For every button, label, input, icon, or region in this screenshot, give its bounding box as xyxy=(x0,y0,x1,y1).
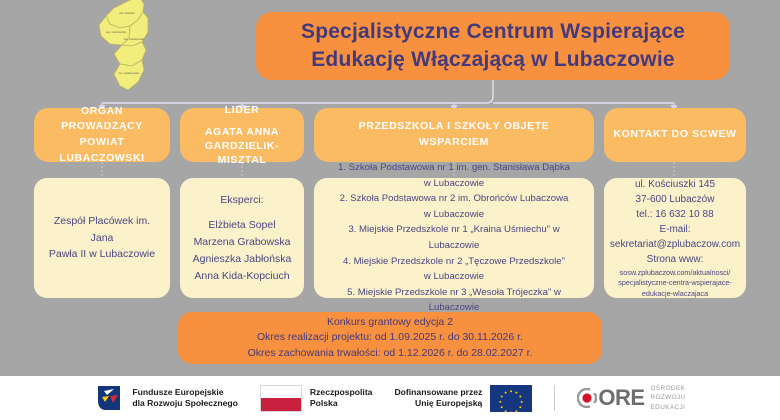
notice-line-1: Konkurs grantowy edycja 2 xyxy=(327,315,453,330)
header-line-2: AGATA ANNA xyxy=(205,125,279,139)
list-item: w Lubaczowie xyxy=(324,207,584,223)
school-list: 1. Szkoła Podstawowa nr 1 im. gen. Stani… xyxy=(324,160,584,315)
card-kontakt: ul. Kościuszki 145 37-600 Lubaczów tel.:… xyxy=(604,178,746,298)
flag-red-stripe xyxy=(261,398,301,411)
address-city: 37-600 Lubaczów xyxy=(636,192,715,207)
address-street: ul. Kościuszki 145 xyxy=(635,177,715,192)
list-item: 5. Miejskie Przedszkole nr 3 „Wesoła Tró… xyxy=(324,285,584,316)
list-item: 1. Szkoła Podstawowa nr 1 im. gen. Stani… xyxy=(324,160,584,176)
list-item: 2. Szkoła Podstawowa nr 2 im. Obrońców L… xyxy=(324,191,584,207)
logo-line-1: Rzeczpospolita xyxy=(310,387,373,398)
eu-flag-icon xyxy=(490,385,532,412)
ore-subtitle: Ośrodek Rozwoju Edukacji xyxy=(651,384,686,413)
logo-dofinansowane-text: Dofinansowane przez Unię Europejską xyxy=(394,387,482,409)
logo-line-2: Polska xyxy=(310,398,373,409)
card-line: Zespół Placówek im. Jana xyxy=(44,213,160,247)
section-header-lider[interactable]: LIDER AGATA ANNA GARDZIELIK-MISZTAL xyxy=(180,108,304,162)
logo-fundusze-europejskie: Fundusze Europejskie dla Rozwoju Społecz… xyxy=(94,384,238,412)
fundusze-europejskie-icon xyxy=(94,384,124,412)
list-item: 3. Miejskie Przedszkole nr 1 „Kraina Uśm… xyxy=(324,222,584,253)
ore-sub-line-3: Edukacji xyxy=(651,403,686,413)
title-line-1: Specjalistyczne Centrum Wspierające xyxy=(301,20,685,43)
notice-line-2: Okres realizacji projektu: od 1.09.2025 … xyxy=(257,330,523,345)
ore-wordmark: ORE xyxy=(577,385,644,411)
map-svg: woj. lubelskie woj. mazowieckie woj. sub… xyxy=(96,0,212,98)
notice-line-3: Okres zachowania trwałości: od 1.12.2026… xyxy=(248,346,533,361)
ore-sub-line-2: Rozwoju xyxy=(651,393,686,403)
page-title: Specjalistyczne Centrum Wspierające Eduk… xyxy=(256,12,730,80)
logo-rzeczpospolita-text: Rzeczpospolita Polska xyxy=(310,387,373,409)
header-line-1: PRZEDSZKOLA I SZKOŁY OBJĘTE WSPARCIEM xyxy=(322,119,586,151)
url-line-2: specjalistyczne-centra-wspierajace- xyxy=(618,278,731,288)
footer-divider xyxy=(554,385,555,411)
svg-text:woj. subkarpackie: woj. subkarpackie xyxy=(124,37,145,41)
logo-dofinansowane-ue: Dofinansowane przez Unię Europejską xyxy=(394,385,532,412)
poland-flag-icon xyxy=(260,385,302,412)
email-address[interactable]: sekretariat@zplubaczow.com xyxy=(610,237,740,252)
grant-notice: Konkurs grantowy edycja 2 Okres realizac… xyxy=(178,312,602,364)
logo-ore: ORE Ośrodek Rozwoju Edukacji xyxy=(577,384,685,413)
email-label: E-mail: xyxy=(659,222,690,237)
expert-name: Elżbieta Sopel xyxy=(208,217,275,234)
header-line-3: GARDZIELIK-MISZTAL xyxy=(188,139,296,167)
card-eksperci: Eksperci: Elżbieta Sopel Marzena Grabows… xyxy=(180,178,304,298)
ore-sub-line-1: Ośrodek xyxy=(651,384,686,394)
section-header-przedszkola-i-szkoly[interactable]: PRZEDSZKOLA I SZKOŁY OBJĘTE WSPARCIEM xyxy=(314,108,594,162)
logo-fundusze-text: Fundusze Europejskie dla Rozwoju Społecz… xyxy=(132,387,238,409)
logo-line-2: Unię Europejską xyxy=(394,398,482,409)
expert-name: Agnieszka Jabłońska xyxy=(193,251,292,268)
logo-rzeczpospolita-polska: Rzeczpospolita Polska xyxy=(260,385,373,412)
expert-name: Anna Kida-Kopciuch xyxy=(194,268,289,285)
card-szkoly-lista: 1. Szkoła Podstawowa nr 1 im. gen. Stani… xyxy=(314,178,594,298)
logo-line-1: Dofinansowane przez xyxy=(394,387,482,398)
phone-number: tel.: 16 632 10 88 xyxy=(636,207,713,222)
header-line-2: POWIAT LUBACZOWSKI xyxy=(42,135,162,167)
logo-line-2: dla Rozwoju Społecznego xyxy=(132,398,238,409)
www-label: Strona www: xyxy=(647,252,704,267)
poland-region-map: woj. lubelskie woj. mazowieckie woj. sub… xyxy=(96,0,212,98)
card-organ-prowadzacy: Zespół Placówek im. Jana Pawła II w Luba… xyxy=(34,178,170,298)
ore-circle-icon xyxy=(577,388,597,408)
title-line-2: Edukację Włączającą w Lubaczowie xyxy=(311,48,675,71)
website-url[interactable]: sosw.zplubaczow.com/aktualnosci/ specjal… xyxy=(618,268,731,299)
logo-line-1: Fundusze Europejskie xyxy=(132,387,238,398)
svg-text:woj. podkarpackie: woj. podkarpackie xyxy=(119,71,140,75)
section-header-kontakt[interactable]: KONTAKT DO SCWEW xyxy=(604,108,746,162)
footer-logos-bar: Fundusze Europejskie dla Rozwoju Społecz… xyxy=(0,376,780,420)
expert-name: Marzena Grabowska xyxy=(194,234,291,251)
svg-text:woj. mazowieckie: woj. mazowieckie xyxy=(106,30,127,34)
section-header-organ-prowadzacy[interactable]: ORGAN PROWADZĄCY POWIAT LUBACZOWSKI xyxy=(34,108,170,162)
eksperci-label: Eksperci: xyxy=(220,192,263,209)
header-line-1: KONTAKT DO SCWEW xyxy=(613,127,736,143)
list-item: 4. Miejskie Przedszkole nr 2 „Tęczowe Pr… xyxy=(324,254,584,270)
svg-text:woj. lubelskie: woj. lubelskie xyxy=(119,11,135,15)
url-line-1: sosw.zplubaczow.com/aktualnosci/ xyxy=(618,268,731,278)
ore-letters: ORE xyxy=(598,385,644,411)
card-line: Pawła II w Lubaczowie xyxy=(49,246,155,263)
list-item: w Lubaczowie xyxy=(324,269,584,285)
list-item: w Lubaczowie xyxy=(324,176,584,192)
infographic-canvas: woj. lubelskie woj. mazowieckie woj. sub… xyxy=(0,0,780,420)
header-line-1: LIDER xyxy=(225,103,260,119)
header-line-1: ORGAN PROWADZĄCY xyxy=(42,104,162,136)
flag-white-stripe xyxy=(261,386,301,399)
url-line-3: edukacje-wlaczajaca xyxy=(618,289,731,299)
